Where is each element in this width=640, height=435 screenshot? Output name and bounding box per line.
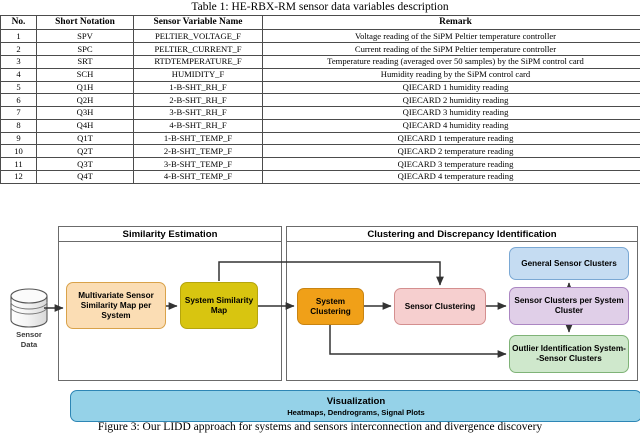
cell-no: 7 [1,107,37,120]
cell-no: 2 [1,43,37,56]
table-row: 6 Q2H 2-B-SHT_RH_F QIECARD 2 humidity re… [1,94,640,107]
table-row: 9 Q1T 1-B-SHT_TEMP_F QIECARD 1 temperatu… [1,132,640,145]
cell-no: 4 [1,68,37,81]
cell-variable-name: RTDTEMPERATURE_F [134,55,263,68]
cell-no: 10 [1,145,37,158]
cell-short-notation: Q2H [37,94,134,107]
datastore-label-line2: Data [21,340,37,349]
table-row: 3 SRT RTDTEMPERATURE_F Temperature readi… [1,55,640,68]
cell-variable-name: 4-B-SHT_RH_F [134,119,263,132]
datastore-label: Sensor Data [0,330,58,349]
cell-short-notation: Q4T [37,170,134,183]
cell-no: 8 [1,119,37,132]
cell-remark: QIECARD 1 temperature reading [263,132,640,145]
cell-no: 12 [1,170,37,183]
cell-short-notation: SRT [37,55,134,68]
cell-remark: QIECARD 1 humidity reading [263,81,640,94]
sensor-variables-table: No. Short Notation Sensor Variable Name … [0,15,640,184]
cell-variable-name: 1-B-SHT_TEMP_F [134,132,263,145]
node-system-similarity-map[interactable]: System Similarity Map [180,282,258,329]
node-general-sensor-clusters[interactable]: General Sensor Clusters [509,247,629,280]
cell-short-notation: Q3T [37,158,134,171]
database-cylinder-icon [8,288,50,328]
visualization-title: Visualization [71,396,640,407]
table-row: 7 Q3H 3-B-SHT_RH_F QIECARD 3 humidity re… [1,107,640,120]
table-header-remark: Remark [263,16,640,30]
table-header-no: No. [1,16,37,30]
node-sensor-clusters-per-system-cluster[interactable]: Sensor Clusters per System Cluster [509,287,629,325]
node-multivariate-sensor-similarity-map[interactable]: Multivariate Sensor Similarity Map per S… [66,282,166,329]
cell-variable-name: PELTIER_CURRENT_F [134,43,263,56]
visualization-bar[interactable]: Visualization Heatmaps, Dendrograms, Sig… [70,390,640,422]
cell-short-notation: Q4H [37,119,134,132]
table-row: 12 Q4T 4-B-SHT_TEMP_F QIECARD 4 temperat… [1,170,640,183]
cell-variable-name: 3-B-SHT_RH_F [134,107,263,120]
node-sensor-clustering[interactable]: Sensor Clustering [394,288,486,325]
cell-no: 11 [1,158,37,171]
cell-short-notation: Q3H [37,107,134,120]
lidd-approach-diagram: Similarity Estimation Clustering and Dis… [0,224,640,435]
table-header-row: No. Short Notation Sensor Variable Name … [1,16,640,30]
table-row: 2 SPC PELTIER_CURRENT_F Current reading … [1,43,640,56]
cell-remark: QIECARD 2 humidity reading [263,94,640,107]
cell-remark: QIECARD 4 humidity reading [263,119,640,132]
table-row: 11 Q3T 3-B-SHT_TEMP_F QIECARD 3 temperat… [1,158,640,171]
cell-variable-name: 3-B-SHT_TEMP_F [134,158,263,171]
figure-caption: Figure 3: Our LIDD approach for systems … [0,421,640,434]
cell-variable-name: 2-B-SHT_RH_F [134,94,263,107]
cell-short-notation: SPC [37,43,134,56]
cell-variable-name: 1-B-SHT_RH_F [134,81,263,94]
cell-variable-name: 4-B-SHT_TEMP_F [134,170,263,183]
cell-short-notation: SPV [37,30,134,43]
node-outlier-identification[interactable]: Outlier Identification System--Sensor Cl… [509,335,629,373]
table-header-short-notation: Short Notation [37,16,134,30]
cell-remark: QIECARD 4 temperature reading [263,170,640,183]
node-system-clustering[interactable]: System Clustering [297,288,364,325]
cell-remark: Current reading of the SiPM Peltier temp… [263,43,640,56]
cell-variable-name: 2-B-SHT_TEMP_F [134,145,263,158]
cell-no: 1 [1,30,37,43]
cell-remark: Humidity reading by the SiPM control car… [263,68,640,81]
datastore-label-line1: Sensor [16,330,42,339]
cell-remark: Voltage reading of the SiPM Peltier temp… [263,30,640,43]
cell-no: 3 [1,55,37,68]
cell-no: 5 [1,81,37,94]
table-row: 10 Q2T 2-B-SHT_TEMP_F QIECARD 2 temperat… [1,145,640,158]
visualization-subtitle: Heatmaps, Dendrograms, Signal Plots [71,408,640,417]
table-row: 8 Q4H 4-B-SHT_RH_F QIECARD 4 humidity re… [1,119,640,132]
cell-no: 6 [1,94,37,107]
cell-short-notation: Q2T [37,145,134,158]
cell-variable-name: HUMIDITY_F [134,68,263,81]
table-row: 5 Q1H 1-B-SHT_RH_F QIECARD 1 humidity re… [1,81,640,94]
cell-short-notation: Q1T [37,132,134,145]
cell-remark: Temperature reading (averaged over 50 sa… [263,55,640,68]
cell-variable-name: PELTIER_VOLTAGE_F [134,30,263,43]
table-caption: Table 1: HE-RBX-RM sensor data variables… [0,0,640,14]
cell-remark: QIECARD 3 temperature reading [263,158,640,171]
table-row: 1 SPV PELTIER_VOLTAGE_F Voltage reading … [1,30,640,43]
cell-remark: QIECARD 2 temperature reading [263,145,640,158]
panel-title-similarity-estimation: Similarity Estimation [59,227,281,242]
cell-no: 9 [1,132,37,145]
panel-title-clustering-discrepancy: Clustering and Discrepancy Identificatio… [287,227,637,242]
table-header-sensor-variable-name: Sensor Variable Name [134,16,263,30]
cell-short-notation: Q1H [37,81,134,94]
cell-short-notation: SCH [37,68,134,81]
table-row: 4 SCH HUMIDITY_F Humidity reading by the… [1,68,640,81]
cell-remark: QIECARD 3 humidity reading [263,107,640,120]
